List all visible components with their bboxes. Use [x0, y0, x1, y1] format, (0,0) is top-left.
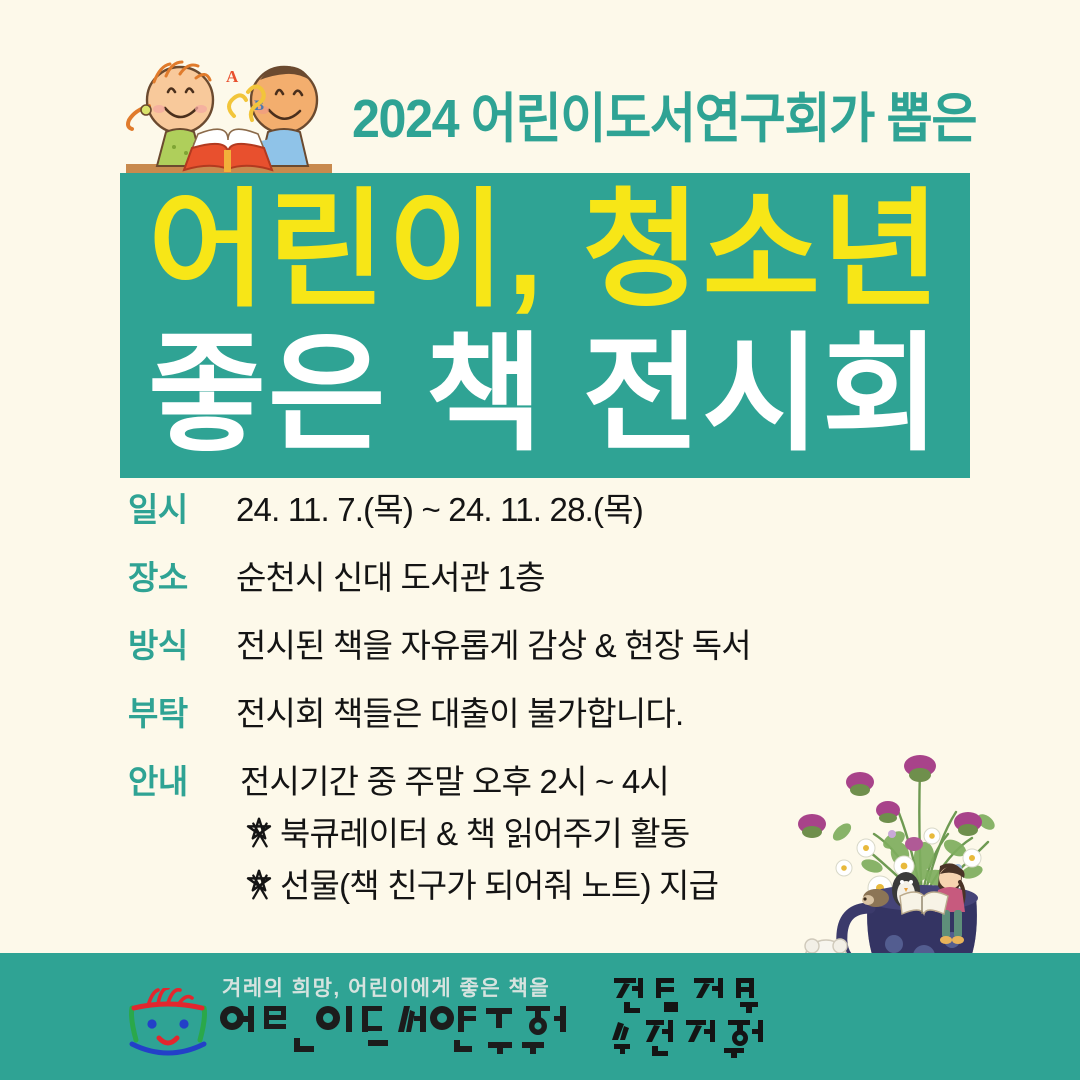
- open-book-smiley-logo-icon: [114, 988, 222, 1064]
- footer-organization-wordmark: [216, 1000, 616, 1062]
- poster-canvas: A B 2024 어린이도서연구회가 뽑은 어린이, 청소년 좋은 책 전시회 …: [0, 0, 1080, 1080]
- main-title-line-2: 좋은 책 전시회: [120, 325, 970, 465]
- poster-eyebrow-title: 2024 어린이도서연구회가 뽑은: [352, 88, 947, 150]
- notice-bullet-2-text: 선물(책 친구가 되어줘 노트) 지급: [280, 860, 718, 912]
- info-label-method: 방식: [128, 620, 236, 672]
- info-label-request: 부탁: [128, 688, 236, 740]
- info-label-place: 장소: [128, 552, 236, 604]
- notice-bullet-1-text: 북큐레이터 & 책 읽어주기 활동: [280, 808, 689, 860]
- info-value-method: 전시된 책을 자유롭게 감상 & 현장 독서: [236, 620, 928, 672]
- info-label-date: 일시: [128, 484, 236, 536]
- info-label-notice: 안내: [128, 756, 236, 808]
- info-value-date: 24. 11. 7.(목) ~ 24. 11. 28.(목): [236, 484, 928, 536]
- two-children-reading-icon: A B: [108, 52, 348, 180]
- info-row-method: 방식 전시된 책을 자유롭게 감상 & 현장 독서: [128, 620, 928, 672]
- info-row-request: 부탁 전시회 책들은 대출이 불가합니다.: [128, 688, 928, 740]
- footer-tagline: 겨레의 희망, 어린이에게 좋은 책을: [222, 975, 622, 1003]
- info-value-request: 전시회 책들은 대출이 불가합니다.: [236, 688, 928, 740]
- info-value-place: 순천시 신대 도서관 1층: [236, 552, 928, 604]
- main-title-line-1: 어린이, 청소년: [120, 181, 970, 321]
- main-title-block: 어린이, 청소년 좋은 책 전시회: [120, 173, 970, 478]
- info-row-date: 일시 24. 11. 7.(목) ~ 24. 11. 28.(목): [128, 484, 928, 536]
- star-bullet-icon: [240, 867, 278, 905]
- star-bullet-icon: [240, 815, 278, 853]
- info-row-place: 장소 순천시 신대 도서관 1층: [128, 552, 928, 604]
- svg-text:A: A: [226, 67, 239, 86]
- footer-branch-labels: [612, 976, 782, 1060]
